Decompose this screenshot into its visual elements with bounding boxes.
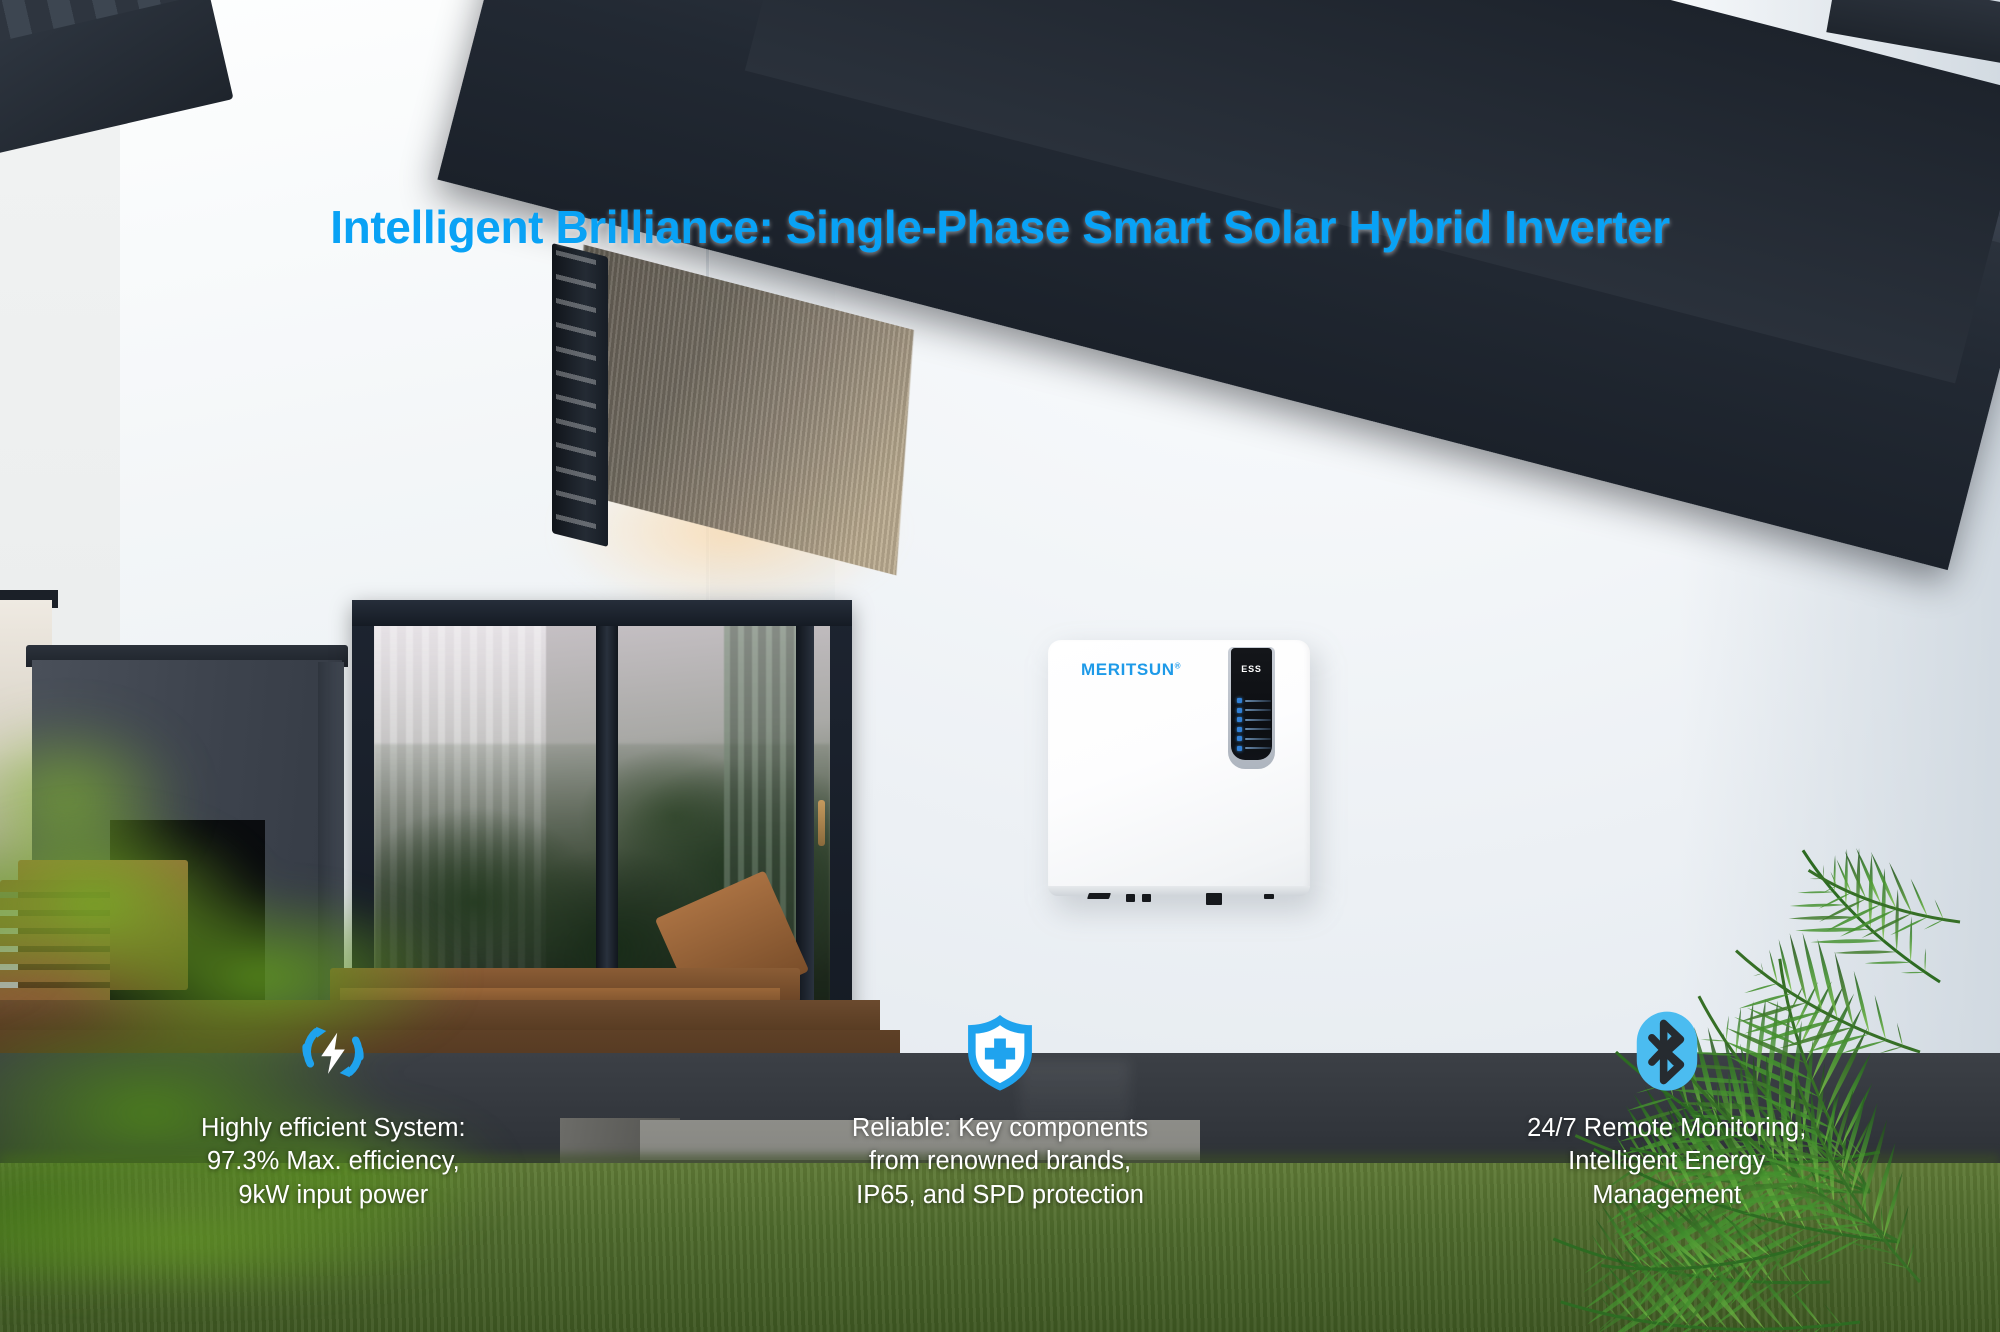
status-led-row xyxy=(1237,696,1271,706)
device-connector xyxy=(1126,894,1135,902)
device-panel-label: ESS xyxy=(1231,664,1272,674)
page-title: Intelligent Brilliance: Single-Phase Sma… xyxy=(0,200,2000,254)
door-header xyxy=(352,600,852,626)
door-handle xyxy=(818,800,825,846)
feature-line: Management xyxy=(1527,1179,1806,1212)
bluetooth-icon xyxy=(1625,1010,1709,1094)
refresh-energy-icon xyxy=(291,1010,375,1094)
led-indicator-icon xyxy=(1237,717,1242,722)
feature-item-efficiency: Highly efficient System: 97.3% Max. effi… xyxy=(0,1010,667,1332)
status-led-row xyxy=(1237,744,1271,754)
feature-line: IP65, and SPD protection xyxy=(852,1179,1148,1212)
status-led-row xyxy=(1237,734,1271,744)
led-caption xyxy=(1245,709,1271,711)
led-caption xyxy=(1245,719,1271,721)
feature-line: 97.3% Max. efficiency, xyxy=(201,1145,466,1178)
feature-line: 24/7 Remote Monitoring, xyxy=(1527,1112,1806,1145)
device-status-leds xyxy=(1237,696,1271,753)
led-caption xyxy=(1245,728,1271,730)
feature-caption: Reliable: Key components from renowned b… xyxy=(852,1112,1148,1212)
status-led-row xyxy=(1237,725,1271,735)
device-brand-name: MERITSUN xyxy=(1081,660,1175,679)
led-indicator-icon xyxy=(1237,736,1242,741)
registered-mark: ® xyxy=(1175,661,1182,670)
feature-item-reliability: Reliable: Key components from renowned b… xyxy=(667,1010,1334,1332)
feature-line: Highly efficient System: xyxy=(201,1112,466,1145)
led-caption xyxy=(1245,700,1271,702)
led-indicator-icon xyxy=(1237,698,1242,703)
solar-hybrid-inverter[interactable]: MERITSUN® ESS xyxy=(1048,640,1318,905)
led-indicator-icon xyxy=(1237,708,1242,713)
feature-line: from renowned brands, xyxy=(852,1145,1148,1178)
marketing-hero-banner: MERITSUN® ESS Intelligent Brilliance: Si… xyxy=(0,0,2000,1332)
led-caption xyxy=(1245,738,1271,740)
feature-list: Highly efficient System: 97.3% Max. effi… xyxy=(0,1010,2000,1332)
feature-line: Reliable: Key components xyxy=(852,1112,1148,1145)
device-connector xyxy=(1087,893,1111,899)
feature-item-monitoring: 24/7 Remote Monitoring, Intelligent Ener… xyxy=(1333,1010,2000,1332)
status-led-row xyxy=(1237,715,1271,725)
feature-caption: 24/7 Remote Monitoring, Intelligent Ener… xyxy=(1527,1112,1806,1212)
device-brand-logo: MERITSUN® xyxy=(1081,660,1181,680)
device-connector xyxy=(1264,894,1274,899)
roof-fascia-notches xyxy=(556,250,596,540)
led-indicator-icon xyxy=(1237,727,1242,732)
feature-line: Intelligent Energy xyxy=(1527,1145,1806,1178)
feature-caption: Highly efficient System: 97.3% Max. effi… xyxy=(201,1112,466,1212)
led-caption xyxy=(1245,747,1271,749)
shield-cross-icon xyxy=(958,1010,1042,1094)
device-connector xyxy=(1142,894,1151,902)
led-indicator-icon xyxy=(1237,746,1242,751)
device-connector xyxy=(1206,893,1222,905)
feature-line: 9kW input power xyxy=(201,1179,466,1212)
status-led-row xyxy=(1237,706,1271,716)
